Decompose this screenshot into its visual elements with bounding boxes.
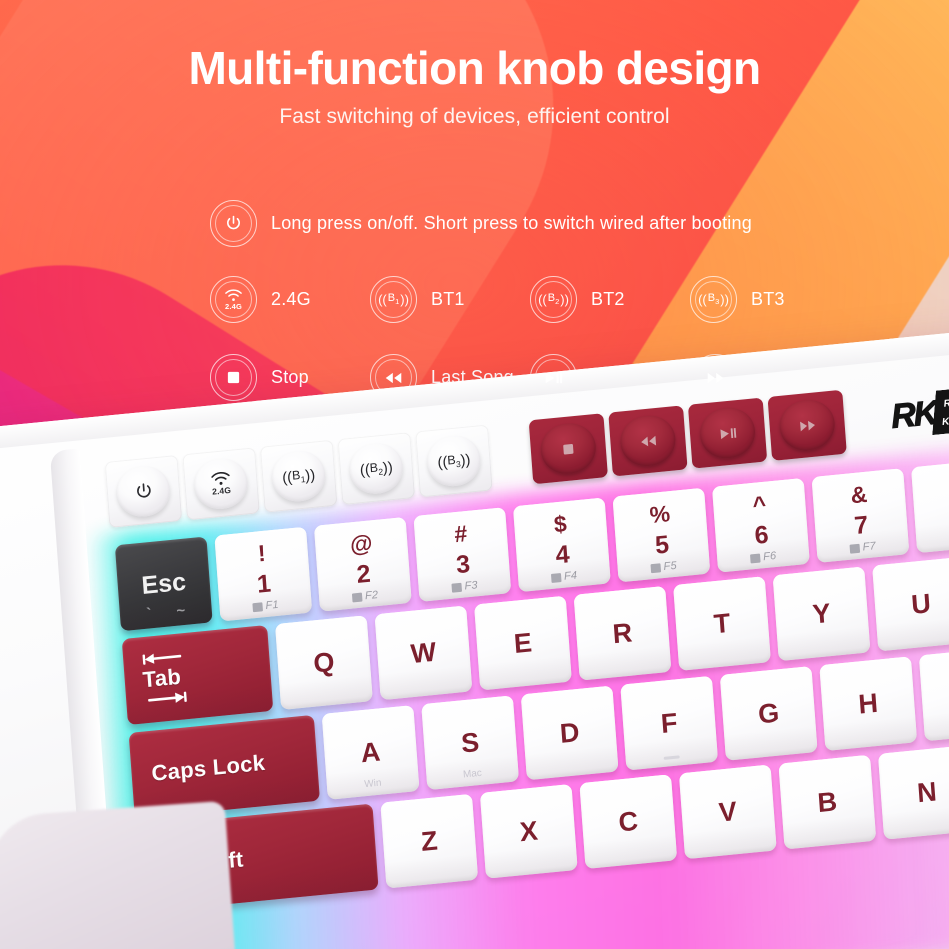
legend-item-power: Long press on/off. Short press to switch… [210, 200, 752, 247]
bt1-number: 1 [395, 297, 399, 306]
key-s-label: S [460, 728, 480, 757]
key-t-label: T [713, 609, 731, 638]
key-w[interactable]: W [375, 605, 473, 700]
key-4[interactable]: $ 4 F4 [513, 497, 611, 592]
wifi-24g-knob[interactable]: 2.4G [193, 456, 249, 511]
next-track-button[interactable] [768, 390, 847, 461]
bt3-number: 3 [715, 297, 719, 306]
key-7-label: 7 [853, 513, 869, 539]
key-3-fn: F3 [418, 576, 510, 597]
play-pause-button[interactable] [688, 398, 767, 469]
key-t[interactable]: T [673, 576, 771, 671]
page-subtitle: Fast switching of devices, efficient con… [0, 105, 949, 129]
key-tab[interactable]: Tab [122, 625, 274, 725]
key-4-fn: F4 [518, 566, 610, 587]
key-g[interactable]: G [720, 666, 818, 761]
bluetooth-b2-icon: (( B2 )) [530, 276, 577, 323]
search-icon [252, 602, 263, 612]
bluetooth-b2-knob-cell[interactable]: (( B2 )) [338, 432, 415, 505]
key-a[interactable]: A Win [322, 705, 420, 800]
key-3-shift-legend: # [454, 522, 468, 546]
bluetooth-b3-knob-cell[interactable]: (( B3 )) [415, 424, 492, 497]
media-icon [750, 553, 761, 563]
power-knob[interactable] [115, 464, 171, 519]
key-e[interactable]: E [474, 596, 572, 691]
legend-item-bt3: (( B3 )) BT3 [690, 276, 785, 323]
previous-track-button[interactable] [608, 405, 687, 476]
key-caps-lock-label: Caps Lock [151, 750, 266, 787]
key-4-label: 4 [555, 542, 571, 568]
brand-line-1: ROYAL [943, 395, 949, 410]
stop-button-knob[interactable] [539, 421, 597, 476]
key-caps-lock[interactable]: Caps Lock [129, 715, 320, 819]
wifi-24g-tag: 2.4G [225, 303, 242, 311]
bluetooth-b3-knob[interactable]: (( B3 )) [426, 433, 482, 488]
key-q-label: Q [312, 648, 335, 677]
key-8-fn: F8 [916, 527, 949, 548]
key-6-fn: F6 [717, 547, 809, 568]
key-1-fn: F1 [219, 596, 311, 617]
brand-line-2: KLUDGE [942, 412, 949, 428]
key-2-fn: F2 [319, 586, 411, 607]
brand-logo: RK ROYAL KLUDGE [889, 380, 949, 443]
key-b[interactable]: B [778, 755, 876, 850]
legend-item-bt1: (( B1 )) BT1 [370, 276, 530, 323]
stop-icon [210, 354, 257, 401]
page-title: Multi-function knob design [0, 42, 949, 95]
key-esc[interactable]: Esc ` ~ [115, 536, 213, 631]
key-z[interactable]: Z [380, 794, 478, 889]
key-u-label: U [910, 590, 931, 619]
legend-item-bt2: (( B2 )) BT2 [530, 276, 690, 323]
bt3-letter: B [708, 292, 715, 304]
bluetooth-b1-knob-cell[interactable]: (( B1 )) [260, 440, 337, 513]
key-z-label: Z [420, 827, 438, 856]
key-5-label: 5 [654, 532, 670, 558]
key-v[interactable]: V [679, 765, 777, 860]
key-esc-sub-left: ` [146, 605, 152, 622]
legend-row-power: Long press on/off. Short press to switch… [0, 200, 949, 247]
key-h[interactable]: H [819, 656, 917, 751]
play-pause-button-knob[interactable] [698, 405, 756, 460]
legend-label-bt3: BT3 [751, 289, 785, 310]
key-g-label: G [757, 699, 780, 728]
power-icon [210, 200, 257, 247]
calculator-icon [551, 573, 562, 583]
key-n[interactable]: N [878, 745, 949, 840]
key-7-shift-legend: & [850, 483, 868, 508]
legend-item-24g: 2.4G 2.4G [210, 276, 370, 323]
key-c[interactable]: C [579, 774, 677, 869]
legend-label-power: Long press on/off. Short press to switch… [271, 213, 752, 234]
key-s-os-label: Mac [426, 764, 518, 784]
key-s[interactable]: S Mac [421, 695, 519, 790]
key-1-shift-legend: ! [257, 542, 266, 566]
legend-label-stop: Stop [271, 367, 309, 388]
key-7-fn: F7 [817, 537, 909, 558]
key-w-label: W [410, 638, 437, 667]
key-1-label: 1 [256, 571, 272, 597]
brand-nameplate: ROYAL KLUDGE [932, 384, 949, 435]
key-d-label: D [559, 719, 580, 748]
key-d[interactable]: D [521, 686, 619, 781]
key-r[interactable]: R [574, 586, 672, 681]
key-e-label: E [513, 629, 533, 658]
bluetooth-b2-knob[interactable]: (( B2 )) [348, 441, 404, 496]
legend-row-connectivity: 2.4G 2.4G (( B1 )) BT1 [0, 276, 949, 323]
desk-surface [0, 801, 235, 949]
key-5-shift-legend: % [649, 502, 671, 527]
home-icon [352, 592, 363, 602]
legend-label-24g: 2.4G [271, 289, 311, 310]
key-v-label: V [718, 798, 738, 827]
bt2-number: 2 [555, 297, 559, 306]
wifi-24g-icon: 2.4G [210, 276, 257, 323]
key-c-label: C [618, 807, 639, 836]
legend-label-bt2: BT2 [591, 289, 625, 310]
key-2-label: 2 [356, 562, 372, 588]
key-q[interactable]: Q [275, 615, 373, 710]
key-8[interactable]: * 8 F8 [911, 458, 949, 553]
key-u[interactable]: U [872, 557, 949, 652]
key-b-label: B [817, 788, 838, 817]
product-marketing-image: Multi-function knob design Fast switchin… [0, 0, 949, 949]
key-h-label: H [858, 689, 879, 718]
key-6-shift-legend: ^ [752, 493, 767, 517]
stop-button[interactable] [529, 413, 608, 484]
wifi-24g-knob-cell[interactable]: 2.4G [182, 447, 259, 520]
bt1-letter: B [388, 292, 395, 304]
bluetooth-b3-icon: (( B3 )) [690, 276, 737, 323]
key-x-label: X [519, 817, 539, 846]
key-3-label: 3 [455, 552, 471, 578]
key-6-label: 6 [754, 523, 770, 549]
key-3[interactable]: # 3 F3 [413, 507, 511, 602]
previous-track-icon [849, 543, 860, 553]
bt2-letter: B [548, 292, 555, 304]
key-r-label: R [612, 619, 633, 648]
key-5-fn: F5 [617, 557, 709, 578]
key-f[interactable]: F [620, 676, 718, 771]
key-2-shift-legend: @ [349, 531, 373, 556]
key-5[interactable]: % 5 F5 [612, 488, 710, 583]
brand-mark: RK [890, 396, 937, 434]
key-tab-label: Tab [142, 664, 182, 694]
music-icon [650, 563, 661, 573]
key-esc-sub-right: ~ [176, 602, 186, 620]
key-4-shift-legend: $ [553, 512, 567, 536]
bluetooth-b1-knob[interactable]: (( B1 )) [270, 449, 326, 504]
mail-icon [451, 582, 462, 592]
next-track-button-knob[interactable] [778, 398, 836, 453]
key-y-label: Y [812, 599, 832, 628]
key-y[interactable]: Y [773, 566, 871, 661]
key-f-label: F [660, 709, 678, 738]
key-7[interactable]: & 7 F7 [811, 468, 909, 563]
key-a-os-label: Win [327, 774, 419, 794]
power-knob-cell[interactable] [105, 455, 182, 528]
key-6[interactable]: ^ 6 F6 [712, 478, 810, 573]
previous-track-button-knob[interactable] [619, 413, 677, 468]
wifi-24g-knob-label: 2.4G [212, 485, 231, 497]
key-x[interactable]: X [480, 784, 578, 879]
key-esc-label: Esc [141, 569, 187, 598]
bluetooth-b1-icon: (( B1 )) [370, 276, 417, 323]
homing-bump [664, 755, 680, 760]
key-n-label: N [916, 778, 937, 807]
key-1[interactable]: ! 1 F1 [214, 527, 312, 622]
key-2[interactable]: @ 2 F2 [314, 517, 412, 612]
key-j[interactable] [919, 647, 949, 742]
key-a-label: A [360, 738, 381, 767]
legend-label-bt1: BT1 [431, 289, 465, 310]
